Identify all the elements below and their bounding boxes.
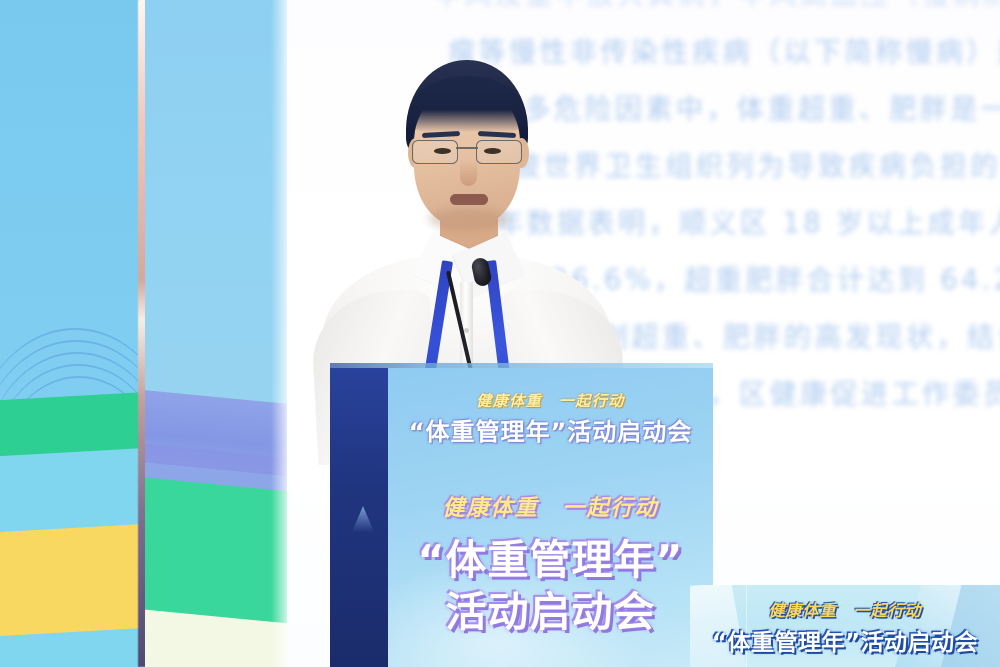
podium: 健康体重 一起行动 “体重管理年”活动启动会 健康体重 一起行动 “体重管理年”…: [330, 368, 713, 667]
glasses-bridge: [456, 147, 478, 149]
mountain-graphic: [352, 506, 374, 532]
banner-subtitle: 健康体重 一起行动: [690, 597, 1000, 621]
event-banner: 健康体重 一起行动 “体重管理年”活动启动会: [690, 585, 1000, 667]
mouth: [450, 194, 488, 205]
podium-title-line2: 活动启动会: [388, 578, 713, 638]
chin-shadow: [428, 208, 508, 230]
screen-text-line: 中风及重中放大其病，中风高血压（慢病防: [434, 0, 1000, 10]
podium-subtitle-top: 健康体重 一起行动: [388, 390, 713, 411]
podium-title-line1: “体重管理年”: [388, 526, 713, 586]
backdrop-panel-left: [0, 0, 140, 667]
backdrop-panel-right: [145, 0, 287, 667]
nose: [460, 160, 477, 186]
podium-subtitle-main: 健康体重 一起行动: [388, 490, 713, 522]
shirt-button: [464, 328, 469, 333]
eye-right: [484, 148, 501, 154]
podium-side-panel: [330, 368, 388, 667]
panel-edge-highlight: [271, 0, 287, 667]
podium-title-top: “体重管理年”活动启动会: [388, 412, 713, 447]
color-band-yellow: [0, 523, 140, 645]
eye-left: [434, 148, 451, 154]
screenshot-scene: 中风及重中放大其病，中风高血压（慢病防 瘤等慢性非传染性疾病（以下简称慢病）是影…: [0, 0, 1000, 667]
banner-title: “体重管理年”活动启动会: [690, 623, 1000, 657]
